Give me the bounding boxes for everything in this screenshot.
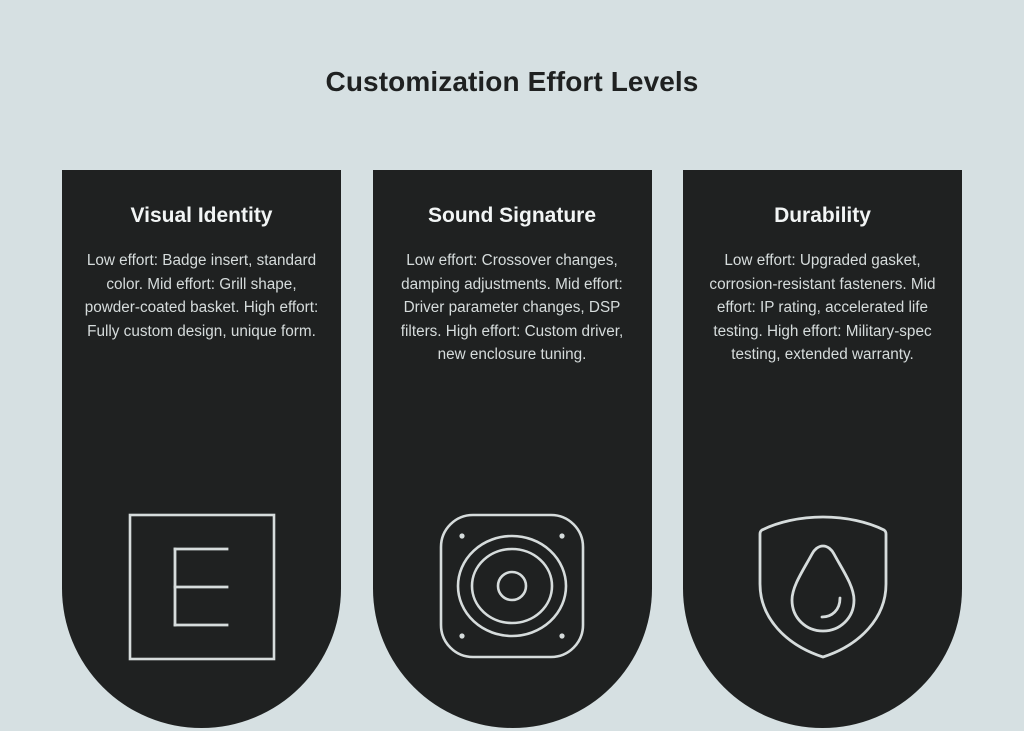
badge-emblem-icon bbox=[62, 512, 341, 662]
card-heading: Sound Signature bbox=[373, 170, 652, 229]
card-body-text: Low effort: Crossover changes, damping a… bbox=[373, 229, 652, 367]
card-body-text: Low effort: Upgraded gasket, corrosion-r… bbox=[683, 229, 962, 367]
card-heading: Durability bbox=[683, 170, 962, 229]
page-title: Customization Effort Levels bbox=[0, 66, 1024, 98]
shield-water-droplet-icon bbox=[683, 510, 962, 662]
card-visual-identity: Visual Identity Low effort: Badge insert… bbox=[62, 170, 341, 728]
card-sound-signature: Sound Signature Low effort: Crossover ch… bbox=[373, 170, 652, 728]
card-body-text: Low effort: Badge insert, standard color… bbox=[62, 229, 341, 343]
card-heading: Visual Identity bbox=[62, 170, 341, 229]
speaker-driver-icon bbox=[373, 510, 652, 662]
cards-row: Visual Identity Low effort: Badge insert… bbox=[62, 170, 962, 728]
card-durability: Durability Low effort: Upgraded gasket, … bbox=[683, 170, 962, 728]
